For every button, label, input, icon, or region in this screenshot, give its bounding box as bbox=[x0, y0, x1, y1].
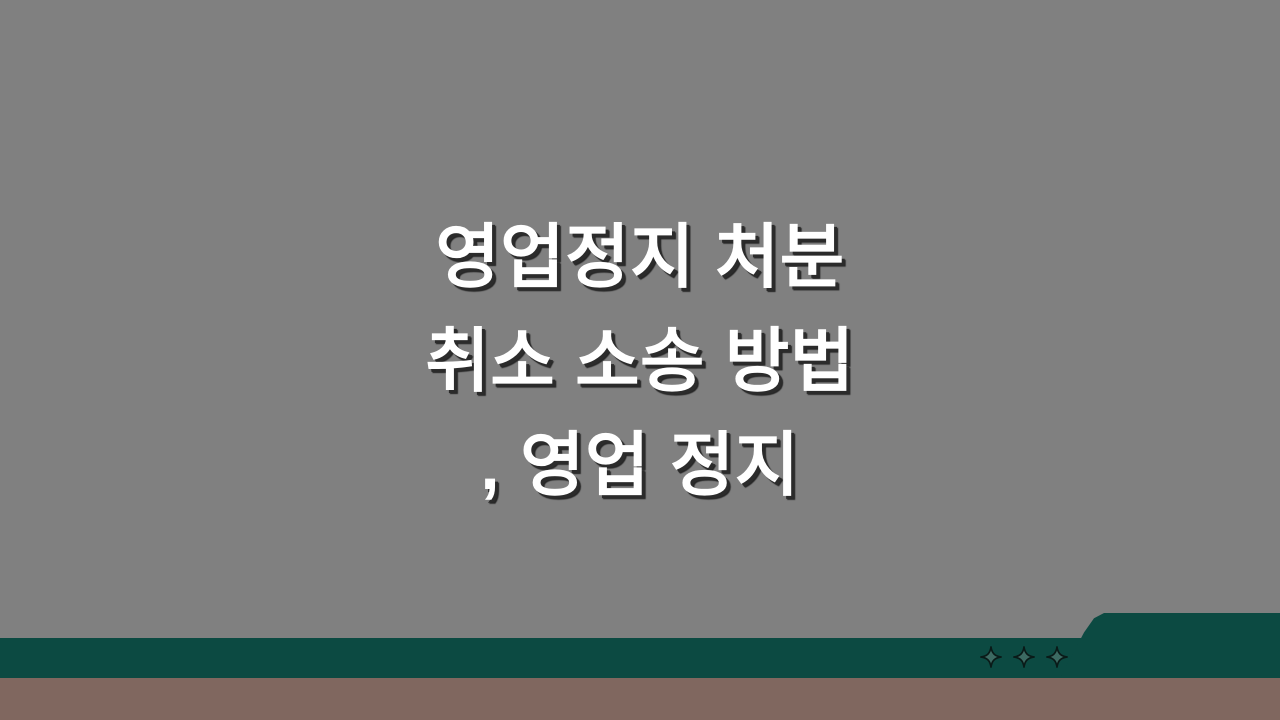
title-line-2: 취소 소송 방법 bbox=[0, 309, 1280, 413]
bottom-decoration-bar bbox=[0, 610, 1280, 720]
title-line-3: , 영업 정지 bbox=[0, 413, 1280, 517]
sparkle-diamond-icon bbox=[980, 646, 1002, 668]
thumbnail-canvas: 영업정지 처분 취소 소송 방법 , 영업 정지 bbox=[0, 0, 1280, 720]
brown-band bbox=[0, 678, 1280, 720]
page-title: 영업정지 처분 취소 소송 방법 , 영업 정지 bbox=[0, 205, 1280, 517]
title-line-1: 영업정지 처분 bbox=[0, 205, 1280, 309]
teal-step-shape bbox=[1060, 613, 1280, 678]
sparkle-diamond-icon bbox=[1013, 646, 1035, 668]
sparkle-diamond-icon bbox=[1046, 646, 1068, 668]
